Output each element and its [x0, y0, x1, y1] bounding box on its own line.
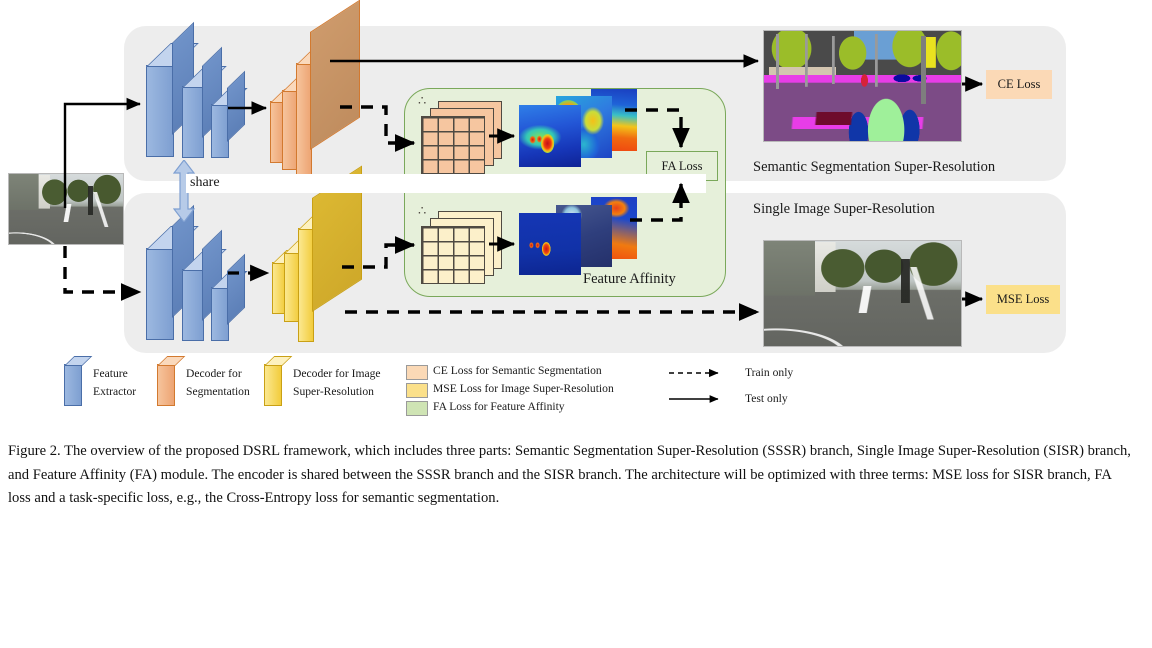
- legend-label-2-line1: Decoder for Image: [293, 367, 381, 381]
- dashed-arrow-icon: [668, 367, 728, 379]
- mse-loss-label: MSE Loss: [997, 292, 1049, 307]
- legend-label-1-line2: Segmentation: [186, 385, 250, 399]
- legend-label-0-line1: Feature: [93, 367, 128, 381]
- prism-blue-icon-top: [64, 356, 92, 366]
- input-street-photo: [9, 174, 123, 244]
- sisr-encoder-slab-2: [182, 269, 204, 341]
- sssr-panel-label: Semantic Segmentation Super-Resolution: [753, 159, 995, 176]
- figure-caption: Figure 2. The overview of the proposed D…: [8, 440, 1136, 511]
- sr-output-image: [763, 240, 962, 347]
- legend-arrow-0-label: Train only: [745, 366, 793, 379]
- figure-legend: Feature Extractor Decoder for Segmentati…: [0, 356, 1152, 418]
- fa-loss-label: FA Loss: [661, 159, 702, 174]
- stack-dots-lower: ∴: [418, 206, 436, 220]
- swatch-fa-icon: [406, 401, 428, 416]
- sisr-panel-label: Single Image Super-Resolution: [753, 201, 935, 218]
- encoder-slab-2: [182, 86, 204, 158]
- prism-orange-icon-top: [157, 356, 185, 366]
- prism-yellow-icon: [264, 364, 282, 406]
- feature-affinity-label: Feature Affinity: [583, 271, 676, 288]
- heatmap-sisr-front: [519, 213, 581, 275]
- legend-label-0-line2: Extractor: [93, 385, 136, 399]
- prism-orange-icon: [157, 364, 175, 406]
- prism-blue-icon: [64, 364, 82, 406]
- legend-swatch-0-label: CE Loss for Semantic Segmentation: [433, 364, 602, 377]
- encoder-slab-1: [146, 65, 174, 157]
- legend-label-1-line1: Decoder for: [186, 367, 242, 381]
- ce-loss-label: CE Loss: [998, 77, 1041, 92]
- solid-arrow-icon: [668, 393, 728, 405]
- share-label-bg: [186, 174, 706, 193]
- legend-swatch-1-label: MSE Loss for Image Super-Resolution: [433, 382, 614, 395]
- sisr-encoder-slab-1: [146, 248, 174, 340]
- sr-street-photo: [764, 241, 961, 346]
- ce-loss-box: CE Loss: [986, 70, 1052, 99]
- swatch-ce-icon: [406, 365, 428, 380]
- mse-loss-box: MSE Loss: [986, 285, 1060, 314]
- segmentation-map: [764, 31, 961, 141]
- legend-swatch-2-label: FA Loss for Feature Affinity: [433, 400, 565, 413]
- stack-dots-upper: ∴: [418, 96, 436, 110]
- legend-arrow-1-label: Test only: [745, 392, 788, 405]
- legend-label-2-line2: Super-Resolution: [293, 385, 374, 399]
- heatmap-sssr-front: [519, 105, 581, 167]
- prism-yellow-icon-top: [264, 356, 292, 366]
- share-label: share: [190, 175, 220, 191]
- swatch-mse-icon: [406, 383, 428, 398]
- input-image: [8, 173, 124, 245]
- segmentation-output-image: [763, 30, 962, 142]
